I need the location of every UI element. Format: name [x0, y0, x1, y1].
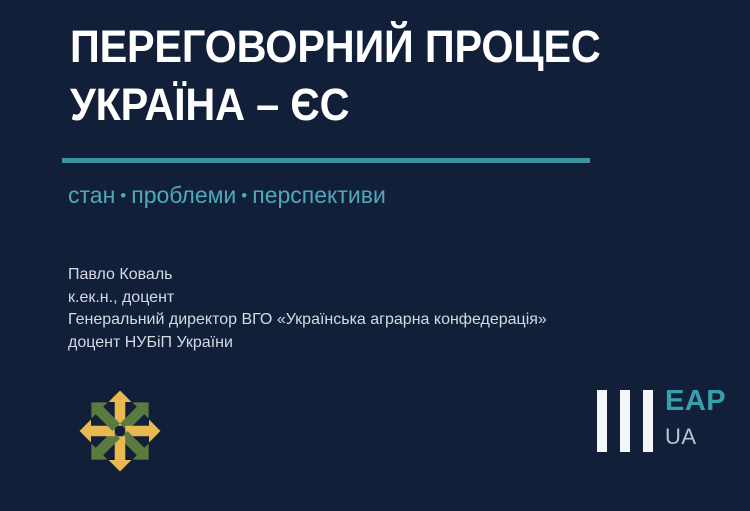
presenter-degree: к.ек.н., доцент — [68, 287, 547, 310]
presenter-position: Генеральний директор ВГО «Українська агр… — [68, 309, 547, 332]
subtitle-part-2: проблеми — [131, 182, 236, 208]
presenter-name: Павло Коваль — [68, 264, 547, 287]
title-line-2: УКРАЇНА – ЄС — [70, 76, 659, 134]
eap-bar-3 — [643, 390, 653, 452]
eap-bar-2 — [620, 390, 630, 452]
subtitle-part-3: перспективи — [252, 182, 386, 208]
subtitle-separator-1: • — [115, 186, 131, 205]
presenter-details: Павло Коваль к.ек.н., доцент Генеральний… — [68, 264, 547, 354]
star-burst-logo-icon — [72, 387, 168, 475]
presentation-slide: ПЕРЕГОВОРНИЙ ПРОЦЕС УКРАЇНА – ЄС стан•пр… — [0, 0, 750, 511]
slide-subtitle: стан•проблеми•перспективи — [68, 180, 386, 211]
eap-logo-name: EAP — [665, 385, 726, 417]
title-divider-rule — [62, 158, 590, 163]
subtitle-separator-2: • — [236, 186, 252, 205]
eap-logo: EAP UA — [597, 385, 717, 460]
subtitle-part-1: стан — [68, 182, 115, 208]
eap-logo-country: UA — [665, 424, 726, 450]
presenter-affiliation: доцент НУБіП України — [68, 332, 547, 355]
title-line-1: ПЕРЕГОВОРНИЙ ПРОЦЕС — [70, 18, 659, 76]
slide-title: ПЕРЕГОВОРНИЙ ПРОЦЕС УКРАЇНА – ЄС — [70, 18, 710, 134]
eap-bar-1 — [597, 390, 607, 452]
eap-bars-icon — [597, 390, 655, 452]
eap-logo-text: EAP UA — [665, 385, 726, 450]
